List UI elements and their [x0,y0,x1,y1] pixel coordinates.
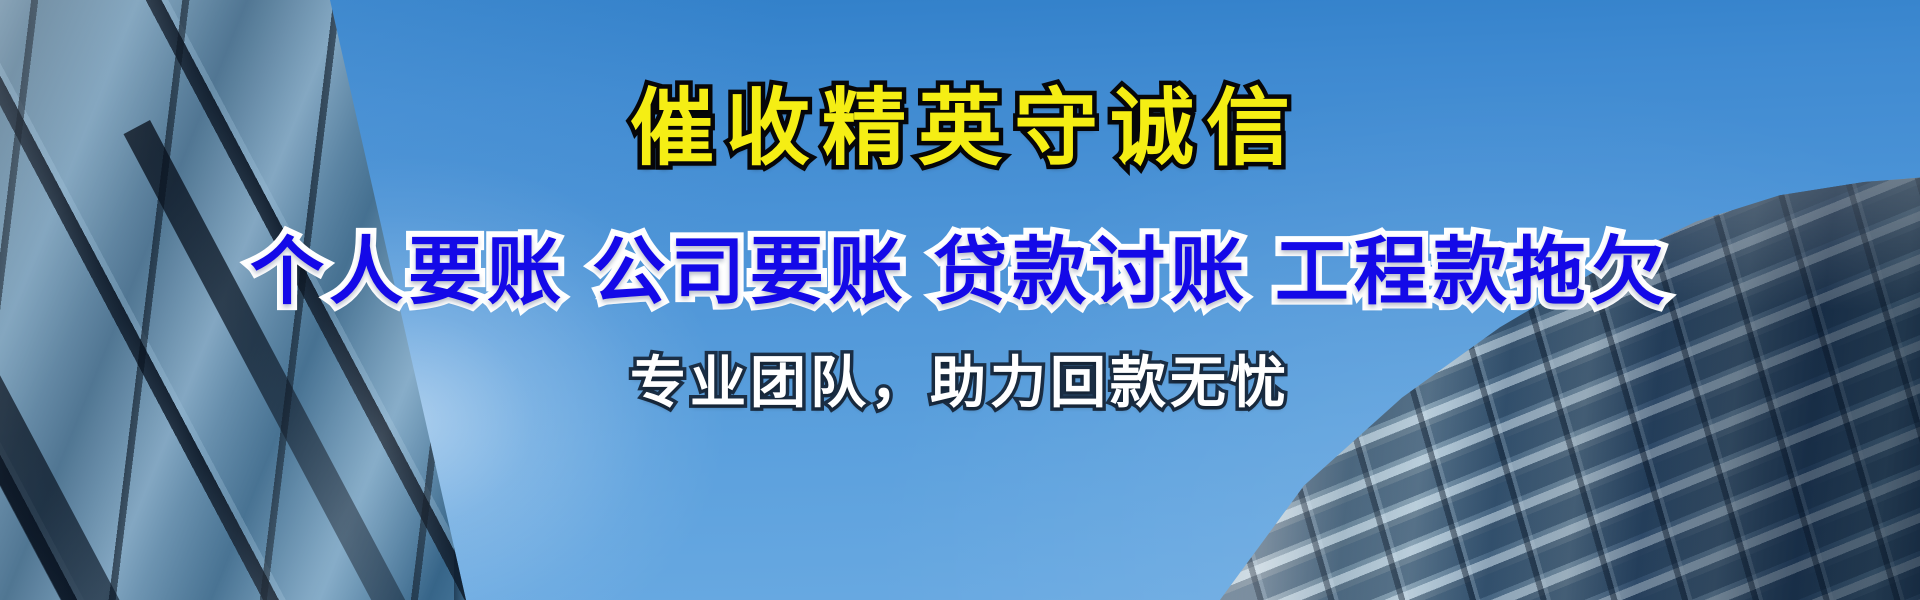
banner-text-layer: 催收精英守诚信 个人要账 公司要账 贷款讨账 工程款拖欠 专业团队，助力回款无忧 [0,0,1920,600]
promotional-banner: 催收精英守诚信 个人要账 公司要账 贷款讨账 工程款拖欠 专业团队，助力回款无忧 [0,0,1920,600]
banner-headline: 催收精英守诚信 [0,84,1920,172]
banner-services-line: 个人要账 公司要账 贷款讨账 工程款拖欠 [0,232,1920,312]
banner-tagline: 专业团队，助力回款无忧 [0,352,1920,414]
